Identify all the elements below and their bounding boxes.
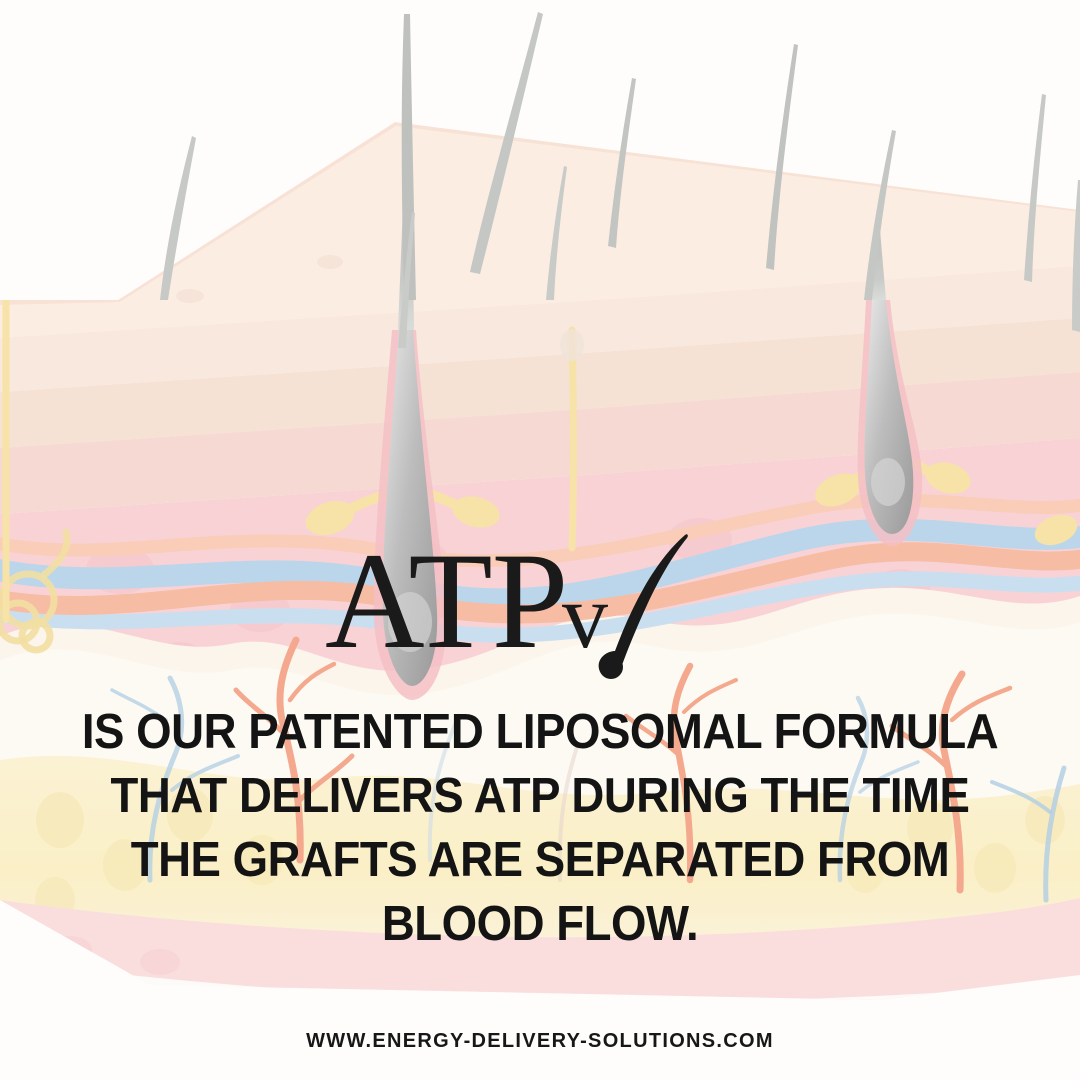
sweat-duct [572, 330, 574, 548]
headline-line-3: THE GRAFTS ARE SEPARATED FROM [38, 828, 1042, 892]
logo-wordmark: ATP [325, 524, 567, 677]
poster-canvas: ATP v IS OUR PATENTED LIPOSOMAL FORMULA … [0, 0, 1080, 1080]
follicle-papilla [871, 458, 905, 506]
checkmark-base-dot [599, 655, 623, 679]
website-url: WWW.ENERGY-DELIVERY-SOLUTIONS.COM [0, 1030, 1080, 1053]
duct-opening [560, 329, 584, 361]
footer-block: WWW.ENERGY-DELIVERY-SOLUTIONS.COM [0, 1030, 1080, 1053]
headline-line-1: IS OUR PATENTED LIPOSOMAL FORMULA [38, 700, 1042, 764]
logo-letter-v: v [562, 565, 608, 667]
headline-line-4: BLOOD FLOW. [38, 892, 1042, 956]
headline-block: IS OUR PATENTED LIPOSOMAL FORMULA THAT D… [0, 700, 1080, 956]
headline-line-2: THAT DELIVERS ATP DURING THE TIME [38, 764, 1042, 828]
atpv-logo: ATP v [0, 528, 1080, 688]
atpv-logo-svg: ATP v [325, 523, 755, 693]
